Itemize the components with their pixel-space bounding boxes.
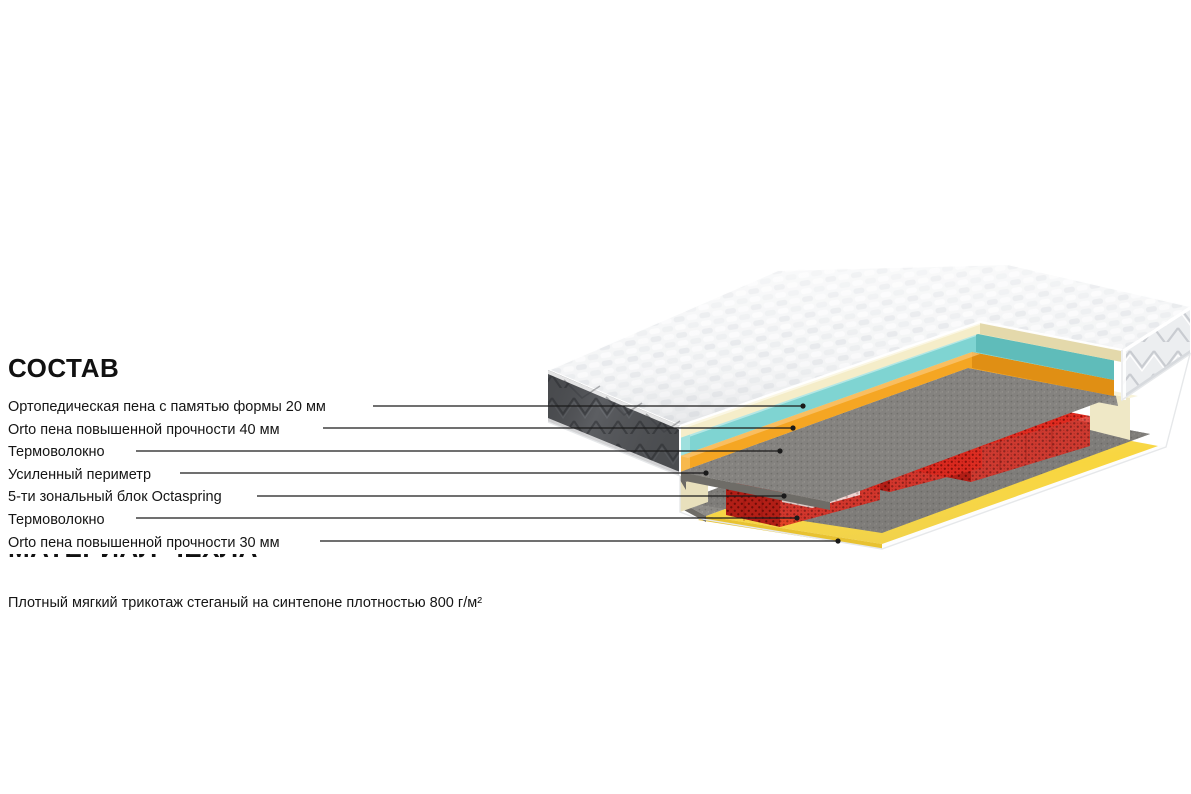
spec-label-orto-foam-bottom: Orto пена повышенной прочности 30 мм [8,532,288,555]
spec-label-reinforced-perimeter: Усиленный периметр [8,464,159,487]
spec-label-memory-foam: Ортопедическая пена с памятью формы 20 м… [8,396,334,419]
composition-heading: СОСТАВ [8,355,119,381]
spec-label-octaspring-block: 5-ти зональный блок Octaspring [8,486,230,509]
infographic-canvas: СОСТАВ Ортопедическая пена с памятью фор… [0,0,1191,794]
cover-material-description: Плотный мягкий трикотаж стеганый на синт… [8,595,482,611]
spec-label-thermo-felt-top: Термоволокно [8,441,113,464]
mattress-body [548,264,1190,549]
spec-label-thermo-felt-bottom: Термоволокно [8,509,113,532]
spec-label-orto-foam-top: Orto пена повышенной прочности 40 мм [8,419,288,442]
mattress-cutaway-illustration [530,250,1191,550]
